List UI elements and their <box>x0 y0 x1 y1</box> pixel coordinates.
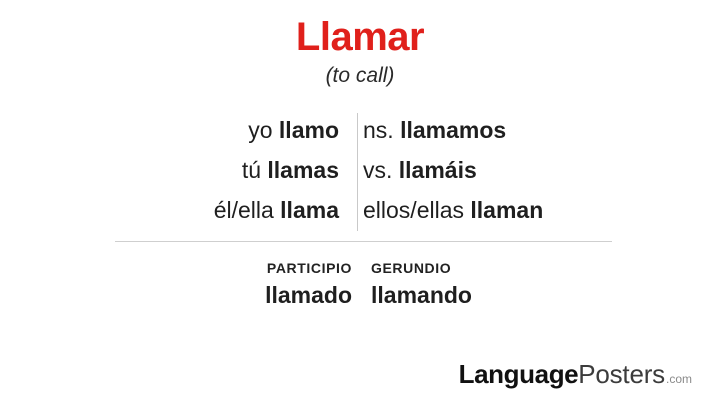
verb-form-tu: llamas <box>267 157 339 183</box>
title-block: Llamar (to call) <box>0 14 720 90</box>
gerundio-label: GERUNDIO <box>371 258 451 278</box>
pronoun-tu: tú <box>242 157 268 183</box>
verb-form-vosotros: llamáis <box>399 157 477 183</box>
pronoun-el-ella: él/ella <box>214 197 280 223</box>
nonfinite-forms: PARTICIPIO GERUNDIO llamado llamando <box>0 258 720 312</box>
conjugation-cell-yo: yo llamo <box>0 110 350 150</box>
pronoun-vosotros: vs. <box>363 157 399 183</box>
table-row: yo llamo ns. llamamos <box>0 110 720 150</box>
logo-tld-text: .com <box>666 372 692 386</box>
verb-translation: (to call) <box>0 62 720 90</box>
section-divider <box>115 241 612 242</box>
conjugation-cell-nosotros: ns. llamamos <box>350 110 720 150</box>
verb-conjugation-poster: Llamar (to call) yo llamo ns. llamamos t… <box>0 0 720 404</box>
conjugation-cell-el-ella: él/ella llama <box>0 190 350 230</box>
verb-form-el-ella: llama <box>280 197 339 223</box>
conjugation-cell-vosotros: vs. llamáis <box>350 150 720 190</box>
verb-form-ellos-ellas: llaman <box>470 197 543 223</box>
table-row: él/ella llama ellos/ellas llaman <box>0 190 720 230</box>
participio-value: llamado <box>265 278 352 312</box>
logo-language-text: Language <box>459 359 579 390</box>
table-row: tú llamas vs. llamáis <box>0 150 720 190</box>
pronoun-ellos-ellas: ellos/ellas <box>363 197 470 223</box>
page-title: Llamar <box>0 14 720 60</box>
verb-form-nosotros: llamamos <box>400 117 506 143</box>
conjugation-cell-ellos-ellas: ellos/ellas llaman <box>350 190 720 230</box>
nonfinite-value-row: llamado llamando <box>0 278 720 312</box>
logo-posters-text: Posters <box>578 359 665 390</box>
column-divider <box>357 113 358 231</box>
languageposters-logo[interactable]: LanguagePosters.com <box>459 359 692 390</box>
nonfinite-label-row: PARTICIPIO GERUNDIO <box>0 258 720 278</box>
pronoun-nosotros: ns. <box>363 117 400 143</box>
conjugation-table: yo llamo ns. llamamos tú llamas vs. llam… <box>0 110 720 230</box>
pronoun-yo: yo <box>248 117 279 143</box>
participio-label: PARTICIPIO <box>267 258 352 278</box>
gerundio-value: llamando <box>371 278 472 312</box>
verb-form-yo: llamo <box>279 117 339 143</box>
conjugation-cell-tu: tú llamas <box>0 150 350 190</box>
